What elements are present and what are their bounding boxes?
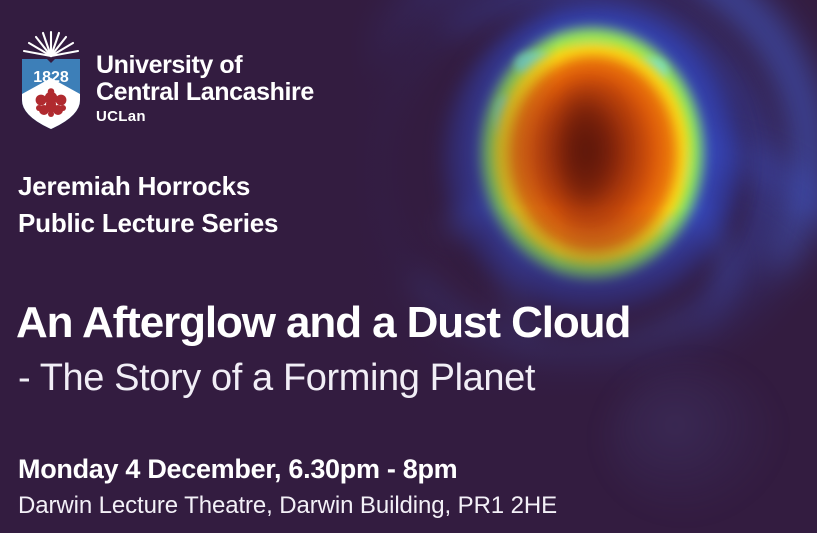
lecture-series-heading: Jeremiah Horrocks Public Lecture Series	[18, 168, 278, 242]
sunburst-rays-icon	[24, 32, 78, 56]
lecture-poster: 1828 University of Central Lancashire UC…	[0, 0, 817, 533]
uclan-logo-wordmark: University of Central Lancashire UCLan	[96, 28, 314, 127]
lecture-subtitle: - The Story of a Forming Planet	[18, 355, 535, 401]
founding-year-text: 1828	[33, 69, 69, 86]
university-name-line1: University of	[96, 52, 314, 79]
event-venue: Darwin Lecture Theatre, Darwin Building,…	[18, 491, 557, 521]
background-nebula-wisp	[607, 365, 777, 515]
uclan-shield-logo-icon: 1828	[16, 28, 86, 132]
lecture-title: An Afterglow and a Dust Cloud	[16, 298, 630, 348]
series-line-2: Public Lecture Series	[18, 205, 278, 242]
university-name-line2: Central Lancashire	[96, 79, 314, 106]
uclan-logo: 1828 University of Central Lancashire UC…	[16, 28, 314, 132]
event-date-time: Monday 4 December, 6.30pm - 8pm	[18, 453, 457, 486]
series-line-1: Jeremiah Horrocks	[18, 168, 278, 205]
uclan-abbreviation: UCLan	[96, 107, 314, 127]
